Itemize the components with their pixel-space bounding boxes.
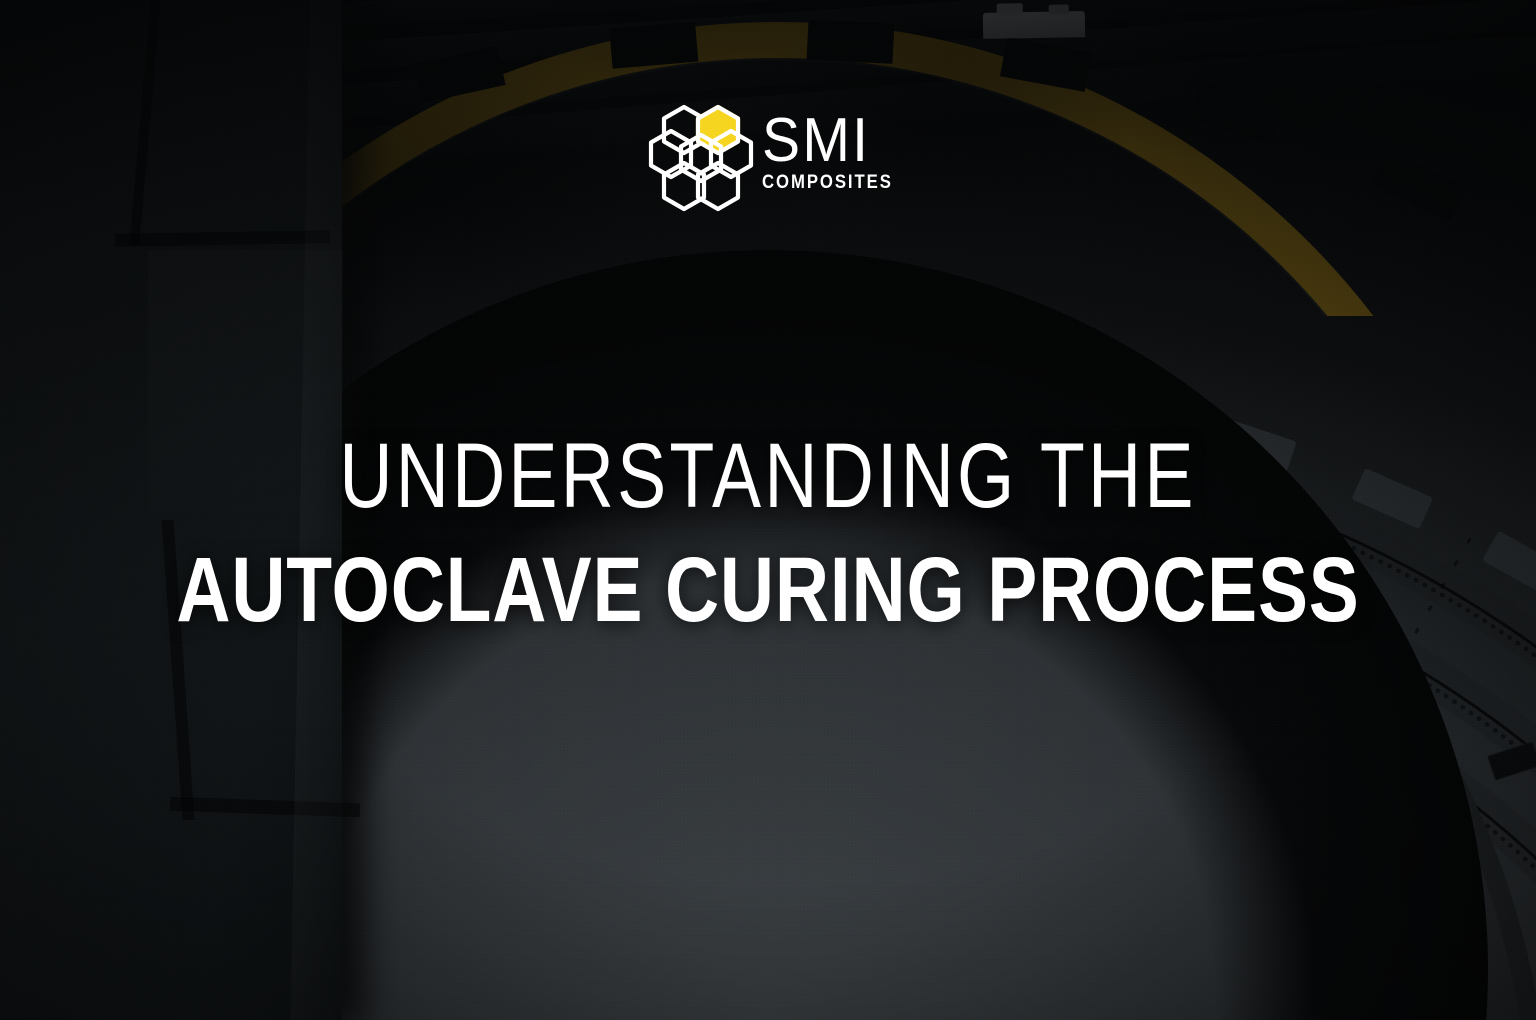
hexagon-honeycomb-icon (648, 104, 754, 212)
title-line-2: AUTOCLAVE CURING PROCESS (142, 544, 1394, 636)
title-line-1: UNDERSTANDING THE (154, 430, 1383, 522)
brand-tagline: COMPOSITES (762, 172, 893, 194)
brand-wordmark: SMI COMPOSITES (762, 104, 911, 194)
hero-banner: SMI COMPOSITES UNDERSTANDING THE AUTOCLA… (0, 0, 1536, 1020)
brand-logo[interactable]: SMI COMPOSITES (648, 104, 911, 212)
brand-name: SMI (762, 114, 899, 167)
hero-content: SMI COMPOSITES UNDERSTANDING THE AUTOCLA… (0, 0, 1536, 1020)
page-title: UNDERSTANDING THE AUTOCLAVE CURING PROCE… (0, 430, 1536, 636)
